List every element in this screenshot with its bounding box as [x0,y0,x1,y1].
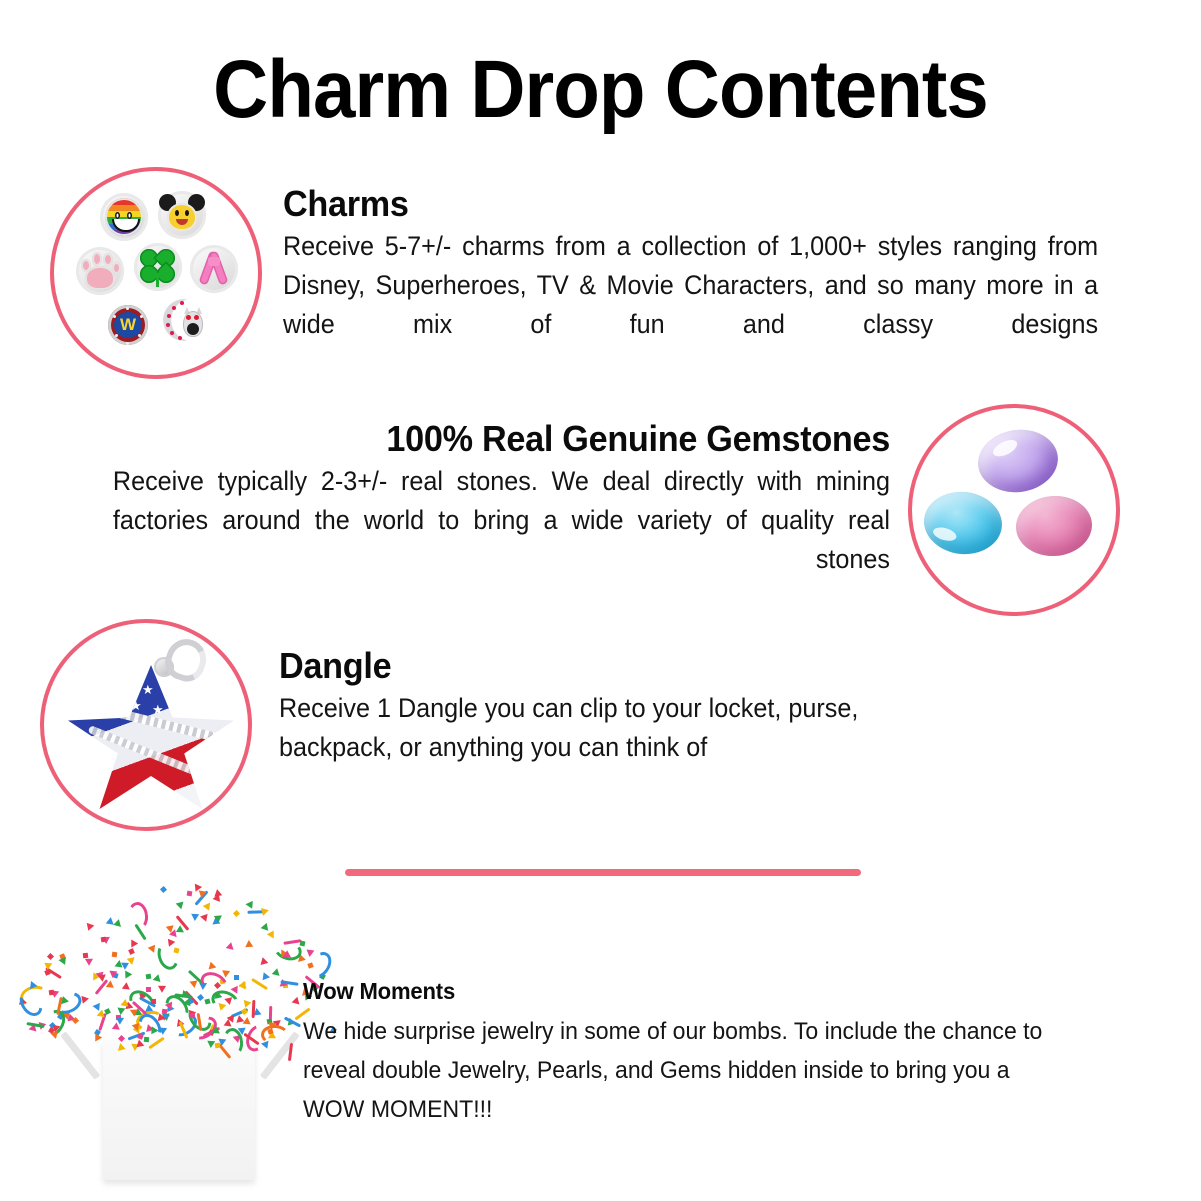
confetti-piece [109,970,118,978]
confetti-piece [127,901,150,931]
confetti-piece [243,1017,252,1025]
pink-ribbon-charm [190,245,238,293]
flag-star-icon: ★ [152,703,164,716]
confetti-piece [47,953,54,960]
confetti-piece [128,937,138,947]
confetti-piece [222,967,232,977]
confetti-piece [260,923,268,932]
gemstones-heading: 100% Real Genuine Gemstones [113,418,890,460]
paw-toe [81,259,91,272]
confetti-piece [128,948,135,955]
confetti-piece [238,1028,247,1036]
eye-right [127,212,132,219]
confetti-piece [258,957,269,968]
confetti-piece [186,891,192,897]
paw-print-charm [76,247,124,295]
section-dangle: Dangle Receive 1 Dangle you can clip to … [279,645,979,767]
confetti-piece [154,940,181,973]
confetti-piece [30,981,38,990]
confetti-piece [151,999,156,1004]
charms-heading: Charms [283,183,1098,225]
flag-star-charm: ★ ★ ★ ★ ★ ★ [68,665,234,815]
section-gemstones: 100% Real Genuine Gemstones Receive typi… [72,418,890,579]
confetti-piece [92,1002,100,1011]
purple-amethyst-gem [974,425,1062,498]
moon-gem [170,331,174,335]
confetti-piece [114,918,124,927]
dangle-photo: ★ ★ ★ ★ ★ ★ [40,619,252,831]
eye-left [175,210,179,216]
flag-star-icon: ★ [108,703,120,716]
confetti-piece [48,989,54,995]
paw-toe [103,253,113,266]
confetti-piece [112,951,118,957]
moon-gem [178,336,182,340]
confetti-piece [122,969,133,979]
confetti-piece [202,900,213,910]
owl-eye [186,315,191,320]
star-shape: ★ ★ ★ ★ ★ ★ [68,665,234,815]
confetti-box-photo [55,878,305,1190]
mickey-head [167,203,197,231]
confetti-piece [85,955,95,965]
confetti-piece [146,987,151,992]
confetti-piece [259,908,269,917]
four-leaf-clover-charm [134,243,182,291]
confetti-piece [160,886,167,893]
charms-photo: W [50,167,262,379]
confetti-piece [191,914,199,921]
confetti-piece [266,930,276,940]
confetti-piece [251,978,268,990]
moon-gem [167,314,171,318]
confetti-piece [114,959,123,967]
flag-star-icon: ★ [120,679,132,692]
confetti-piece [197,890,206,898]
gemstones-photo [908,404,1120,616]
confetti-piece [156,982,166,992]
confetti-piece [204,999,210,1005]
ww-stud [115,334,118,337]
confetti-piece [209,961,218,971]
confetti-piece [234,975,239,980]
confetti-piece [226,942,237,953]
confetti-piece [190,980,199,988]
confetti-piece [259,971,269,980]
owl-eye [194,315,199,320]
confetti-piece [72,1017,79,1024]
paw-toe [92,252,102,266]
owl-belly [187,323,199,335]
confetti-piece [245,900,253,909]
gem-facet [932,525,958,543]
ww-stud [138,334,141,337]
confetti-piece [50,1031,60,1040]
moon-gem [172,306,176,310]
confetti-piece [146,974,152,980]
dangle-body: Receive 1 Dangle you can clip to your lo… [279,689,944,767]
clover-stem [156,273,159,287]
confetti-piece [190,1013,195,1018]
owl-moon-charm [161,297,213,349]
confetti-piece [176,926,186,936]
confetti-piece [245,939,254,947]
eye-left [115,212,120,219]
wow-body: We hide surprise jewelry in some of our … [303,1012,1071,1129]
box-body [103,1040,255,1180]
flag-star-icon: ★ [142,683,154,696]
ww-stud [126,307,129,310]
moon-gem [180,301,184,305]
gemstones-body: Receive typically 2-3+/- real stones. We… [113,462,890,579]
wow-heading: Wow Moments [303,976,1071,1006]
mickey-mouse-charm [158,191,206,239]
confetti-piece [237,980,246,990]
confetti-piece [200,914,210,923]
ww-stud [126,342,129,345]
flag-star-icon: ★ [130,699,142,712]
section-wow-moments: Wow Moments We hide surprise jewelry in … [303,976,1103,1129]
blue-topaz-gem [921,488,1005,558]
section-charms: Charms Receive 5-7+/- charms from a coll… [283,183,1141,344]
confetti-piece [291,997,300,1007]
confetti-piece [272,968,283,979]
rainbow-smiley-charm [100,193,148,241]
eye-right [185,210,189,216]
confetti-piece [233,910,240,917]
ww-stud [113,315,116,318]
wonder-woman-charm: W [104,301,152,349]
page-title: Charm Drop Contents [42,44,1159,136]
confetti-piece [100,936,106,942]
confetti-piece [83,920,94,931]
confetti-piece [116,1014,126,1024]
flag-star-icon: ★ [98,685,110,698]
ww-stud [140,315,143,318]
section-divider [345,869,861,876]
pink-sapphire-gem [1014,493,1094,558]
moon-gem [166,323,170,327]
confetti-piece [44,963,53,971]
gem-facet [991,437,1020,460]
confetti-piece [121,998,130,1006]
dangle-heading: Dangle [279,645,944,687]
ww-logo: W [116,317,140,333]
confetti-piece [58,957,66,966]
infographic-page: Charm Drop Contents [0,0,1201,1201]
ribbon-knot [208,257,220,266]
charms-body: Receive 5-7+/- charms from a collection … [283,227,1098,344]
confetti-piece [241,997,252,1008]
confetti-piece [174,900,183,910]
confetti-piece [197,994,204,1001]
confetti-piece [128,1007,138,1017]
paw-toe [112,262,121,274]
confetti-piece [104,1008,111,1015]
